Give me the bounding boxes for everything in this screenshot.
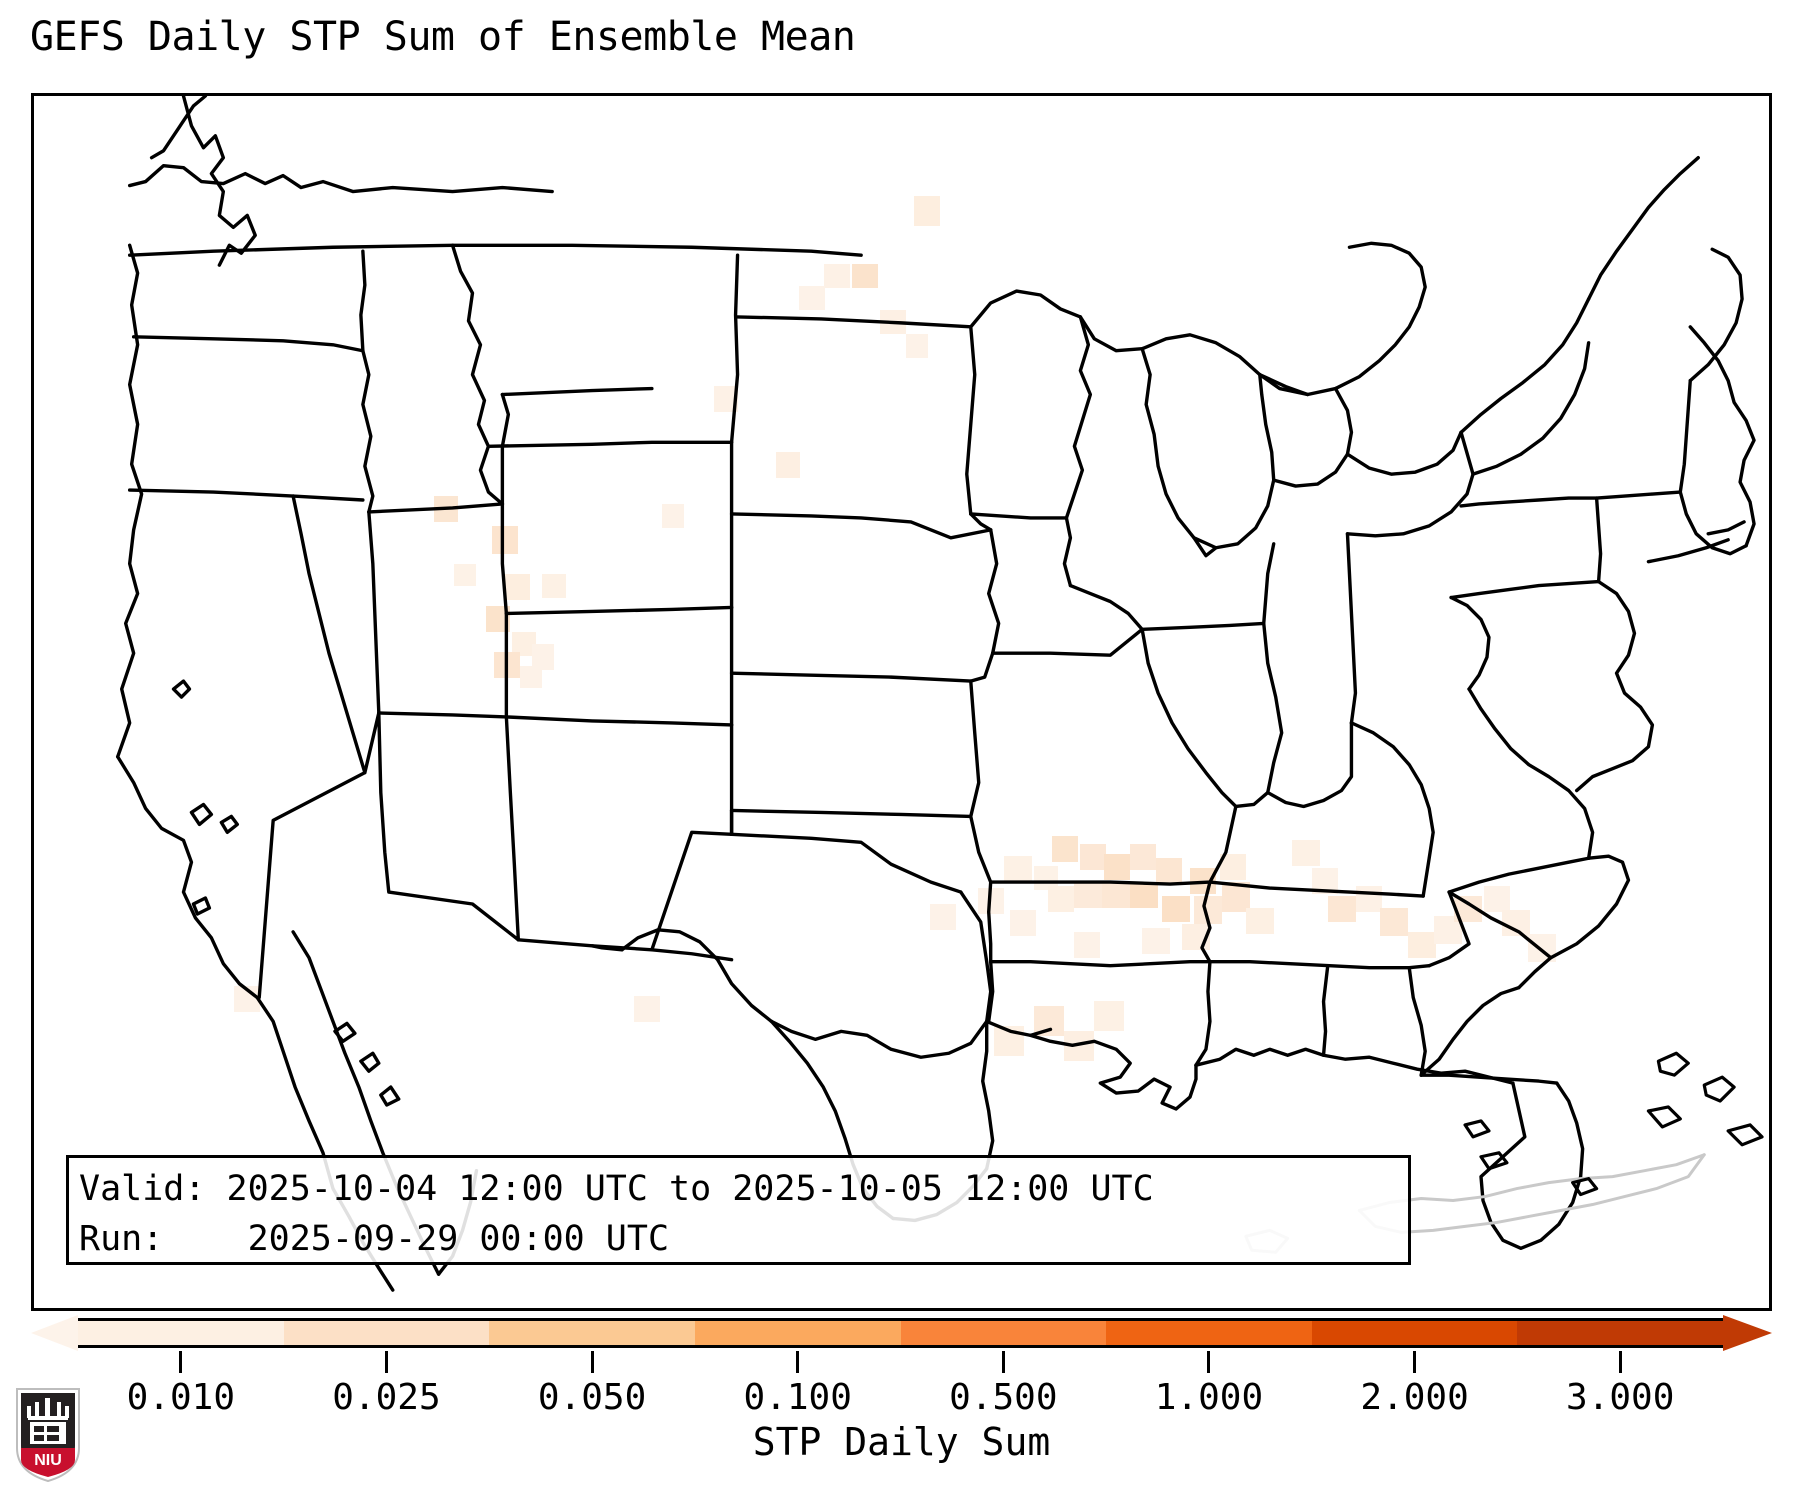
colorbar-tick-label-1: 0.025: [332, 1377, 440, 1418]
colorbar-tick-label-6: 2.000: [1360, 1377, 1468, 1418]
colorbar-extend-right-arrow: [1723, 1315, 1772, 1351]
colorbar-tick-3: [796, 1351, 799, 1373]
colorbar-tick-label-2: 0.050: [538, 1377, 646, 1418]
colorbar-tick-label-5: 1.000: [1155, 1377, 1263, 1418]
colorbar-tick-5: [1207, 1351, 1210, 1373]
niu-logo-text: NIU: [34, 1452, 62, 1469]
colorbar-tick-label-0: 0.010: [127, 1377, 235, 1418]
geography-layer: [34, 96, 1769, 1308]
colorbar-tick-0: [179, 1351, 182, 1373]
colorbar-tick-label-7: 3.000: [1566, 1377, 1674, 1418]
niu-shield-icon: NIU: [14, 1386, 82, 1484]
colorbar-tick-label-4: 0.500: [949, 1377, 1057, 1418]
colorbar-segment-6: [1312, 1321, 1518, 1345]
colorbar-segment-0: [78, 1321, 284, 1345]
colorbar-axis-label: STP Daily Sum: [0, 1420, 1803, 1464]
colorbar-segment-5: [1106, 1321, 1312, 1345]
map-plot-area: [31, 93, 1772, 1311]
page-title: GEFS Daily STP Sum of Ensemble Mean: [30, 14, 855, 60]
colorbar-gradient: [78, 1318, 1723, 1348]
colorbar-tick-4: [1002, 1351, 1005, 1373]
run-time-line: Run: 2025-09-29 00:00 UTC: [79, 1214, 1408, 1264]
colorbar-extend-left-arrow: [31, 1315, 78, 1351]
niu-logo: NIU: [14, 1386, 82, 1484]
colorbar-segment-4: [901, 1321, 1107, 1345]
colorbar-segment-2: [489, 1321, 695, 1345]
colorbar-segment-1: [284, 1321, 490, 1345]
colorbar-tick-2: [591, 1351, 594, 1373]
colorbar-tick-6: [1413, 1351, 1416, 1373]
valid-run-info-box: Valid: 2025-10-04 12:00 UTC to 2025-10-0…: [66, 1155, 1411, 1265]
colorbar-tick-7: [1619, 1351, 1622, 1373]
colorbar-tick-label-3: 0.100: [744, 1377, 852, 1418]
colorbar-segment-7: [1517, 1321, 1723, 1345]
colorbar-tick-1: [385, 1351, 388, 1373]
colorbar-segment-3: [695, 1321, 901, 1345]
valid-time-line: Valid: 2025-10-04 12:00 UTC to 2025-10-0…: [79, 1164, 1408, 1214]
colorbar[interactable]: 0.0100.0250.0500.1000.5001.0002.0003.000: [31, 1315, 1772, 1357]
